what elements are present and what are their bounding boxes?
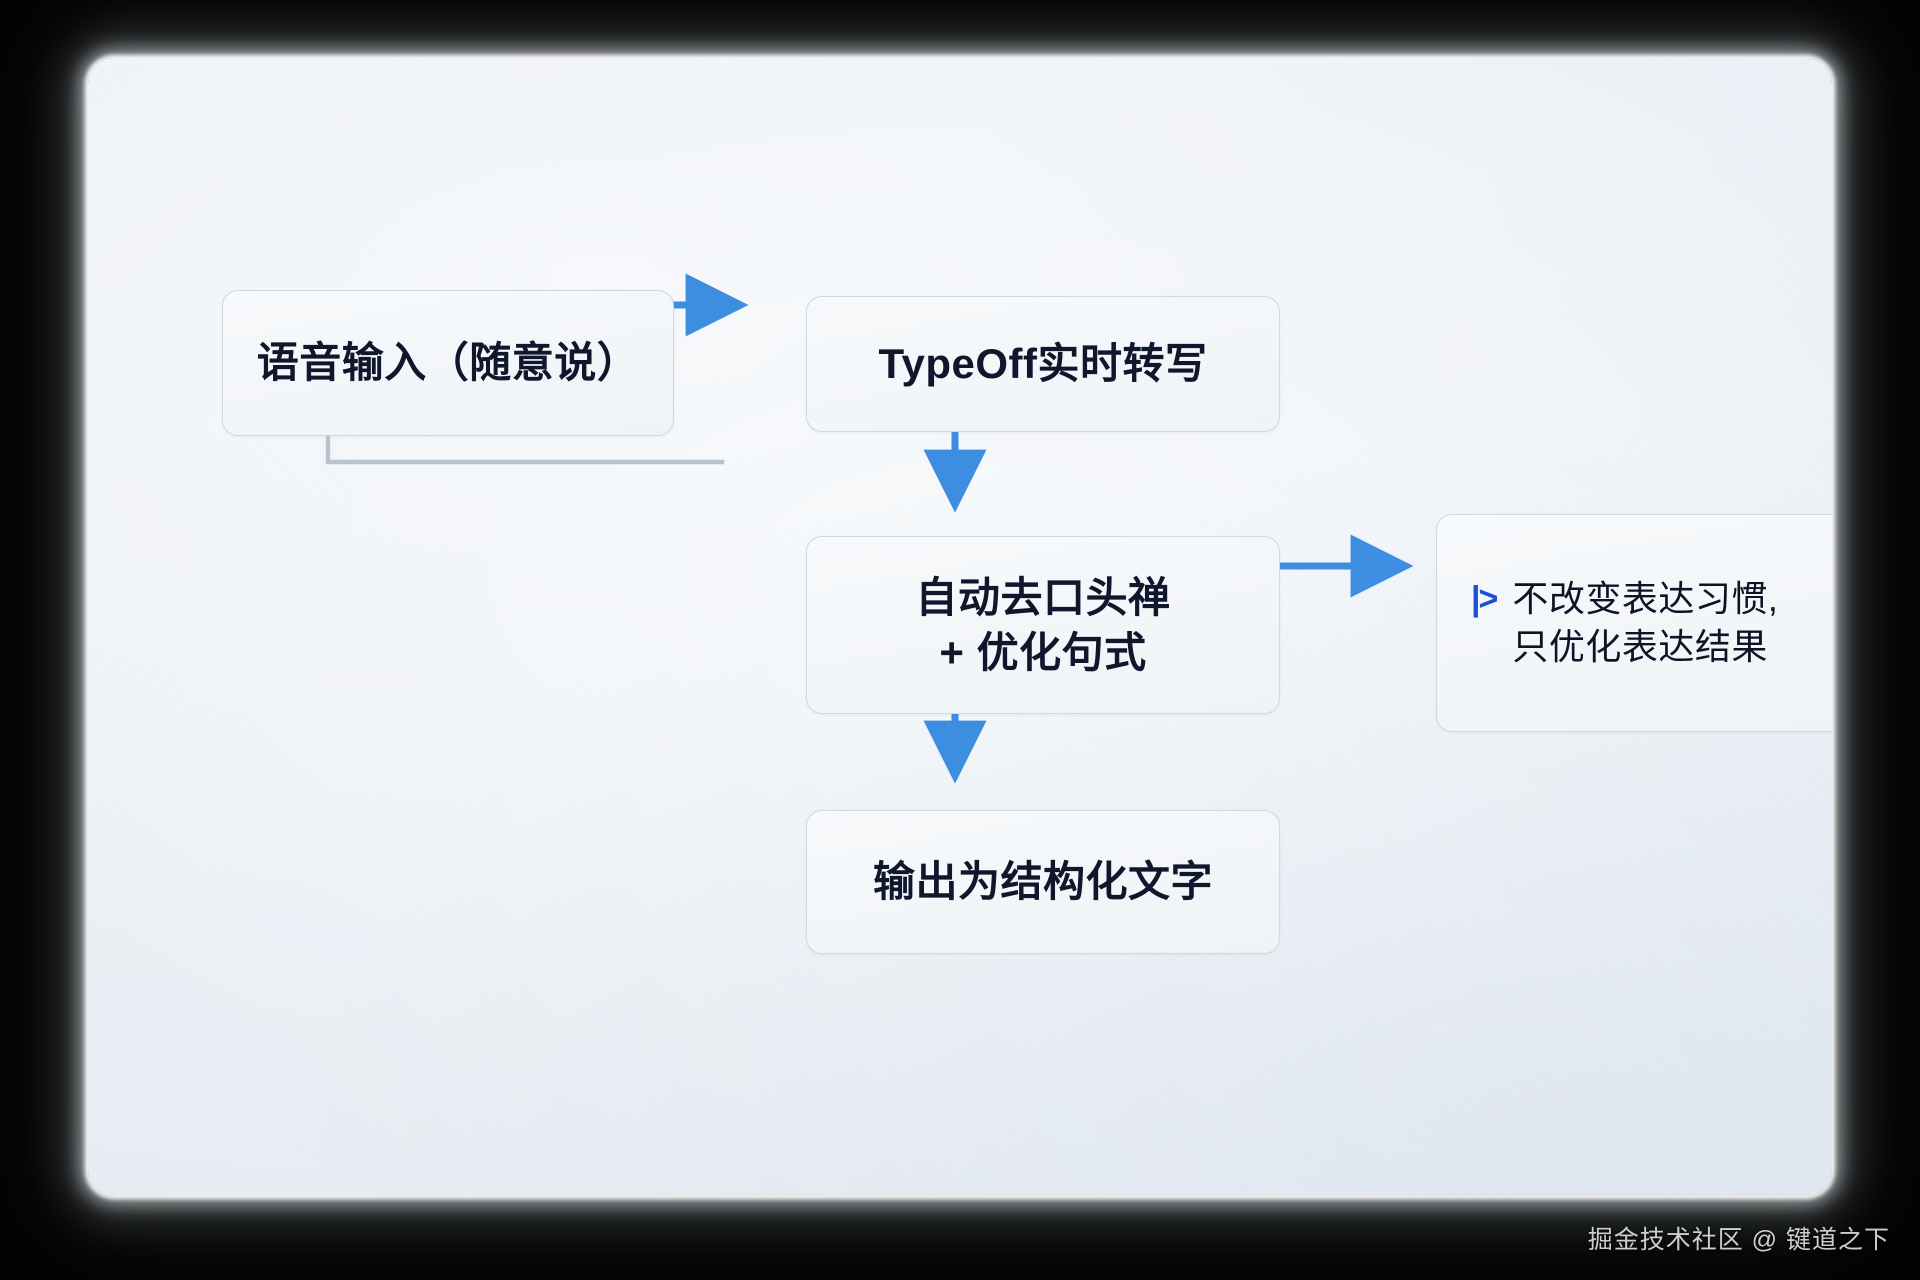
node-principle-note-line2: 只优化表达结果 — [1512, 623, 1778, 671]
node-principle-note-line1: 不改变表达习惯, — [1512, 575, 1778, 623]
node-structured-output-label: 输出为结构化文字 — [873, 854, 1213, 909]
node-typeoff-transcribe[interactable]: TypeOff实时转写 — [806, 296, 1280, 432]
node-clean-and-optimize[interactable]: 自动去口头禅 + 优化句式 — [806, 536, 1280, 714]
node-structured-output[interactable]: 输出为结构化文字 — [806, 810, 1280, 954]
node-principle-note[interactable]: |> 不改变表达习惯, 只优化表达结果 — [1436, 514, 1832, 732]
node-clean-and-optimize-label-line1: 自动去口头禅 — [915, 570, 1170, 625]
node-voice-input[interactable]: 语音输入（随意说） — [222, 290, 674, 436]
play-chevron-icon: |> — [1471, 575, 1496, 623]
node-clean-and-optimize-label-line2: + 优化句式 — [915, 625, 1170, 680]
watermark-label: 掘金技术社区 @ 键道之下 — [1588, 1220, 1890, 1256]
screenshot-canvas: 语音输入（随意说） TypeOff实时转写 自动去口头禅 + 优化句式 输出为结… — [0, 0, 1920, 1280]
node-typeoff-transcribe-label: TypeOff实时转写 — [878, 336, 1207, 391]
node-principle-note-row: |> 不改变表达习惯, 只优化表达结果 — [1471, 575, 1778, 671]
node-voice-input-label: 语音输入（随意说） — [257, 335, 640, 390]
node-principle-note-text: 不改变表达习惯, 只优化表达结果 — [1512, 575, 1778, 671]
node-clean-and-optimize-text: 自动去口头禅 + 优化句式 — [915, 570, 1170, 681]
slide-card: 语音输入（随意说） TypeOff实时转写 自动去口头禅 + 优化句式 输出为结… — [88, 58, 1832, 1196]
